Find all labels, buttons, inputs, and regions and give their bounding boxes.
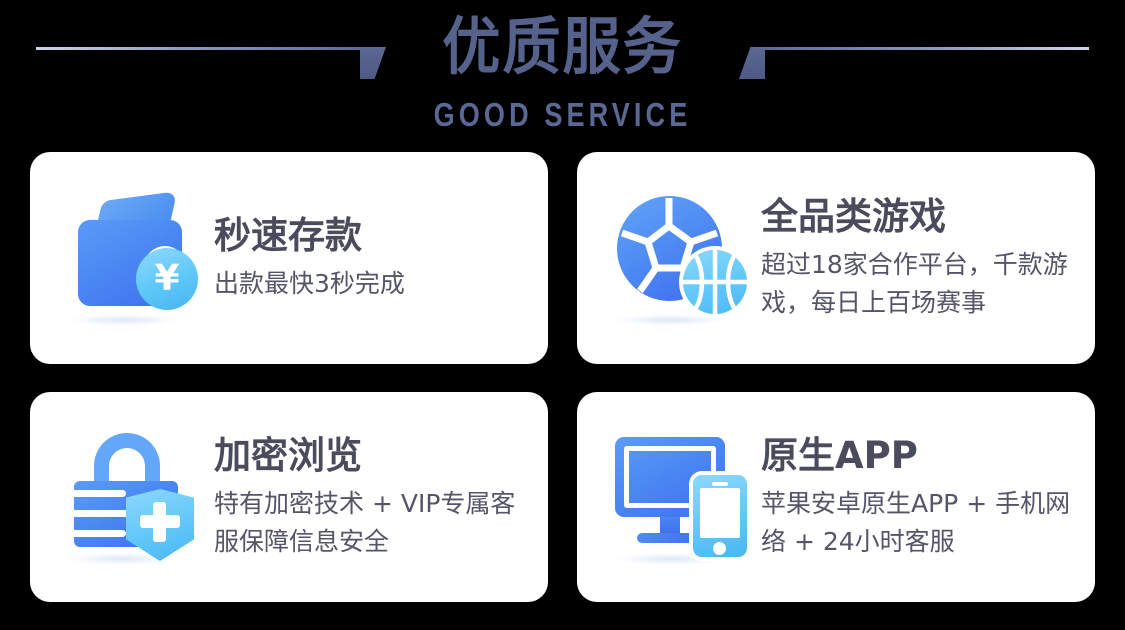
- lock-icon: [72, 431, 200, 557]
- balls-icon: [615, 194, 750, 319]
- phone-speaker: [712, 482, 728, 486]
- feature-card-desc: 特有加密技术 + VIP专属客服保障信息安全: [214, 485, 536, 561]
- feature-card-encryption[interactable]: 加密浏览 特有加密技术 + VIP专属客服保障信息安全: [30, 392, 548, 602]
- shield-cross: [153, 502, 166, 542]
- wallet-icon: ¥: [70, 194, 200, 319]
- feature-card-native-app[interactable]: 原生APP 苹果安卓原生APP + 手机网络 + 24小时客服: [577, 392, 1095, 602]
- devices-icon: [615, 437, 750, 557]
- feature-card-text: 全品类游戏 超过18家合作平台，千款游戏，每日上百场赛事: [755, 194, 1095, 322]
- feature-card-title: 加密浏览: [214, 433, 536, 479]
- page-subtitle: GOOD SERVICE: [101, 96, 1024, 134]
- page-header: 优质服务 GOOD SERVICE: [0, 0, 1125, 146]
- basketball-icon: [683, 250, 747, 314]
- monitor-phone-icon: [605, 427, 755, 567]
- wallet-coin-icon: ¥: [58, 188, 208, 328]
- feature-card-games[interactable]: 全品类游戏 超过18家合作平台，千款游戏，每日上百场赛事: [577, 152, 1095, 364]
- feature-card-text: 加密浏览 特有加密技术 + VIP专属客服保障信息安全: [208, 433, 548, 561]
- phone-icon: [693, 475, 747, 557]
- phone-screen: [700, 488, 740, 538]
- feature-card-title: 全品类游戏: [761, 194, 1083, 240]
- phone-home-button: [713, 542, 726, 555]
- feature-card-desc: 超过18家合作平台，千款游戏，每日上百场赛事: [761, 246, 1083, 322]
- feature-card-deposit[interactable]: ¥ 秒速存款 出款最快3秒完成: [30, 152, 548, 364]
- feature-card-title: 原生APP: [761, 433, 1083, 479]
- soccer-basketball-icon: [605, 188, 755, 328]
- feature-card-text: 原生APP 苹果安卓原生APP + 手机网络 + 24小时客服: [755, 433, 1095, 561]
- basketball-lines: [683, 250, 747, 314]
- feature-card-desc: 苹果安卓原生APP + 手机网络 + 24小时客服: [761, 485, 1083, 561]
- page-title: 优质服务: [34, 6, 1092, 88]
- feature-card-desc: 出款最快3秒完成: [214, 265, 405, 303]
- yen-coin-icon: ¥: [136, 248, 198, 310]
- lock-slot: [74, 490, 126, 497]
- feature-card-text: 秒速存款 出款最快3秒完成: [208, 213, 417, 303]
- lock-slot: [74, 510, 134, 517]
- lock-slot: [74, 530, 126, 537]
- lock-shield-icon: [58, 427, 208, 567]
- feature-card-grid: ¥ 秒速存款 出款最快3秒完成: [30, 152, 1095, 602]
- feature-card-title: 秒速存款: [214, 213, 405, 259]
